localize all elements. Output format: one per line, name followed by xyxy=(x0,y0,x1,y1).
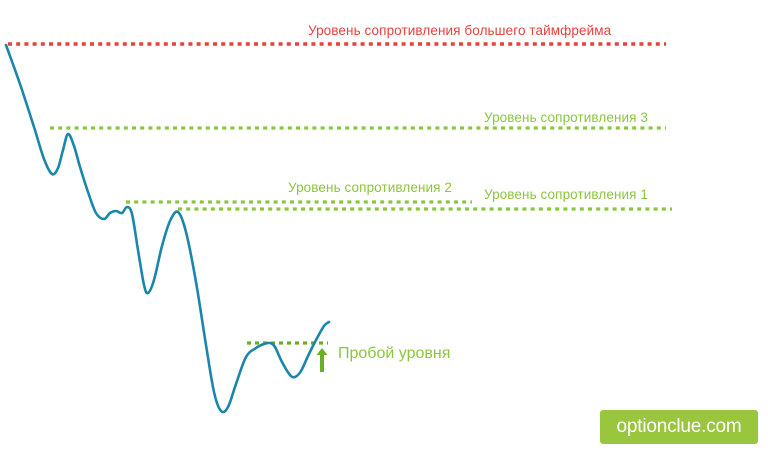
label-breakout: Пробой уровня xyxy=(338,345,450,363)
watermark-text: optionclue.com xyxy=(617,416,742,438)
annotations-group xyxy=(317,348,328,372)
breakout-arrow-icon xyxy=(317,348,328,372)
label-resistance-1: Уровень сопротивления 1 xyxy=(484,187,648,202)
price-series-group xyxy=(6,45,329,412)
label-resistance-3: Уровень сопротивления 3 xyxy=(484,110,648,125)
watermark-badge[interactable]: optionclue.com xyxy=(600,410,758,444)
price-line-price xyxy=(6,45,329,412)
price-chart-svg xyxy=(0,0,768,452)
label-resistance-2: Уровень сопротивления 2 xyxy=(288,180,452,195)
arrow-head xyxy=(317,348,328,355)
chart-canvas: Уровень сопротивления большего таймфрейм… xyxy=(0,0,768,452)
label-higher-timeframe-resistance: Уровень сопротивления большего таймфрейм… xyxy=(308,23,611,38)
